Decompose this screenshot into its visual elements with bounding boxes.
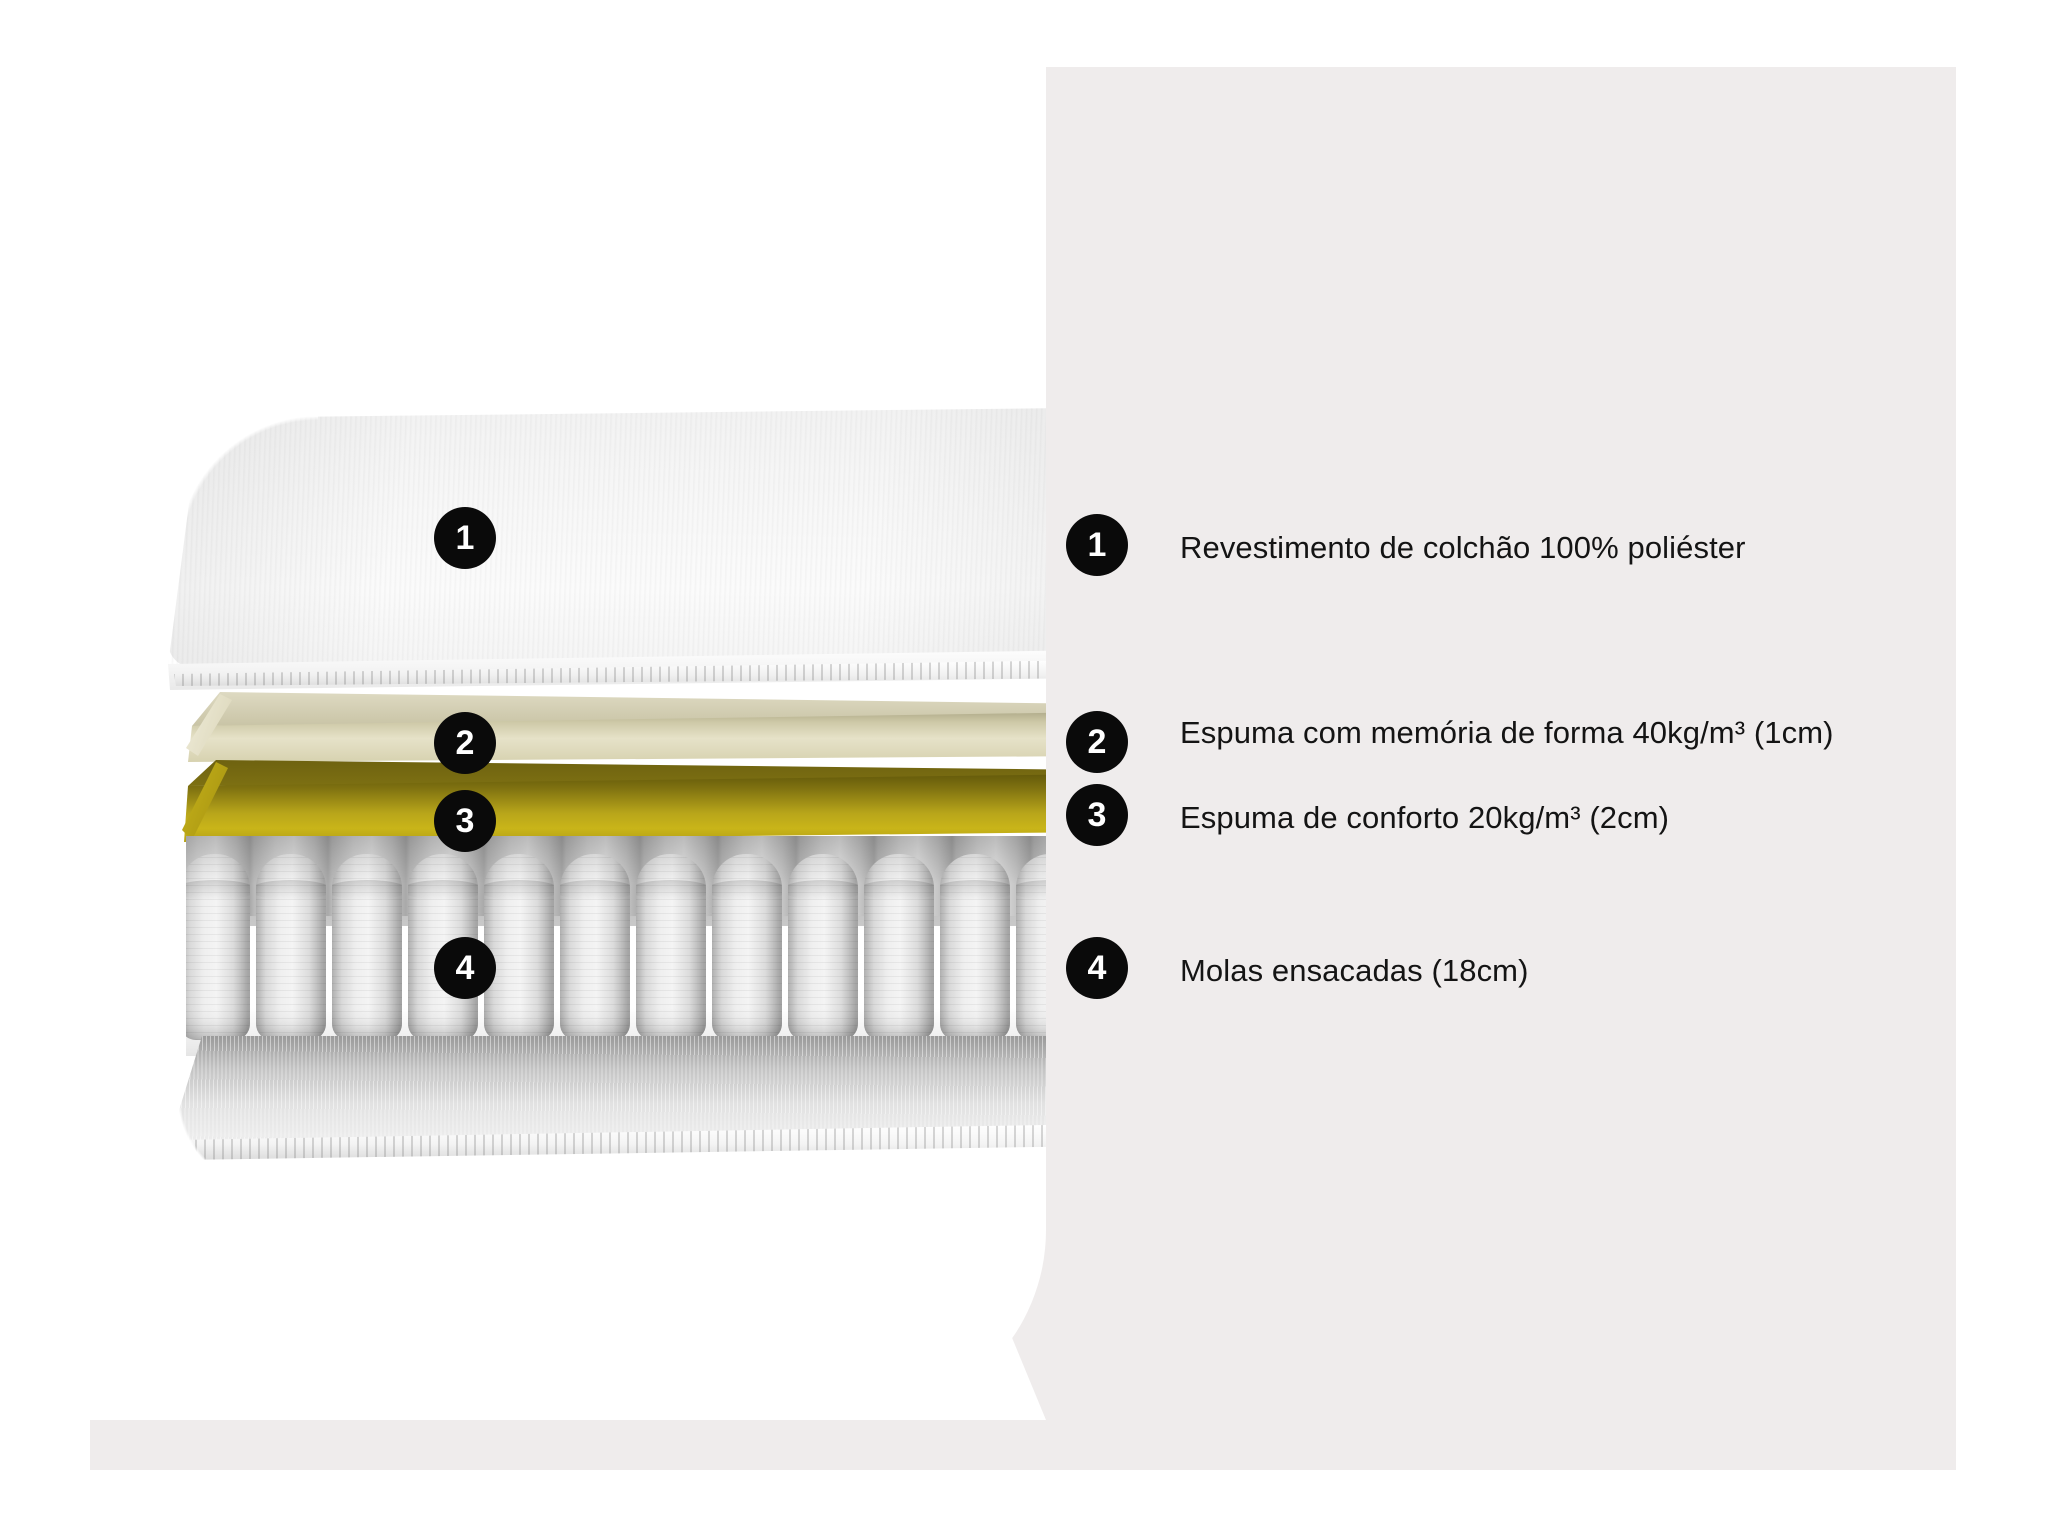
legend-item-memory-foam[interactable]: 2 Espuma com memória de forma 40kg/m³ (1… [1066,711,1834,773]
legend-label-memory-foam: Espuma com memória de forma 40kg/m³ (1cm… [1180,711,1834,754]
pocket-spring [940,854,1010,1040]
legend-item-pocket-springs[interactable]: 4 Molas ensacadas (18cm) [1066,937,1529,999]
legend-badge-2-number: 2 [1088,725,1107,759]
mattress-cover-corner-mask [168,406,318,556]
pocket-spring [484,854,554,1040]
diagram-badge-1-number: 1 [456,521,475,555]
mattress-layers-infographic: 1 2 3 4 1 Revestimento de colchão 100% p… [0,0,2048,1536]
legend-label-cover: Revestimento de colchão 100% poliéster [1180,514,1746,569]
diagram-badge-2[interactable]: 2 [434,712,496,774]
pocket-spring [332,854,402,1040]
diagram-badge-2-number: 2 [456,726,475,760]
pocket-spring [636,854,706,1040]
diagram-badge-1[interactable]: 1 [434,507,496,569]
diagram-badge-3[interactable]: 3 [434,790,496,852]
pocket-spring [712,854,782,1040]
legend-badge-4-number: 4 [1088,951,1107,985]
legend-badge-3: 3 [1066,784,1128,846]
legend-badge-2: 2 [1066,711,1128,773]
legend-item-cover[interactable]: 1 Revestimento de colchão 100% poliéster [1066,514,1746,576]
legend-badge-3-number: 3 [1088,798,1107,832]
pocket-spring [560,854,630,1040]
legend-item-comfort-foam[interactable]: 3 Espuma de conforto 20kg/m³ (2cm) [1066,784,1669,846]
pocket-springs-front-row [186,854,1046,1044]
pocket-spring [788,854,858,1040]
layer-legend: 1 Revestimento de colchão 100% poliéster… [1066,0,1966,1536]
pocket-spring [256,854,326,1040]
mattress-base-corner-mask [150,1096,270,1176]
legend-label-pocket-springs: Molas ensacadas (18cm) [1180,937,1529,992]
pocket-spring [1016,854,1046,1040]
diagram-badge-3-number: 3 [456,804,475,838]
pocket-spring [186,854,250,1040]
legend-badge-1: 1 [1066,514,1128,576]
mattress-illustration [0,0,1046,1420]
diagram-badge-4-number: 4 [456,951,475,985]
diagram-badge-4[interactable]: 4 [434,937,496,999]
legend-label-comfort-foam: Espuma de conforto 20kg/m³ (2cm) [1180,784,1669,839]
legend-badge-4: 4 [1066,937,1128,999]
pocket-springs-layer [186,836,1046,1056]
pocket-spring [864,854,934,1040]
legend-badge-1-number: 1 [1088,528,1107,562]
